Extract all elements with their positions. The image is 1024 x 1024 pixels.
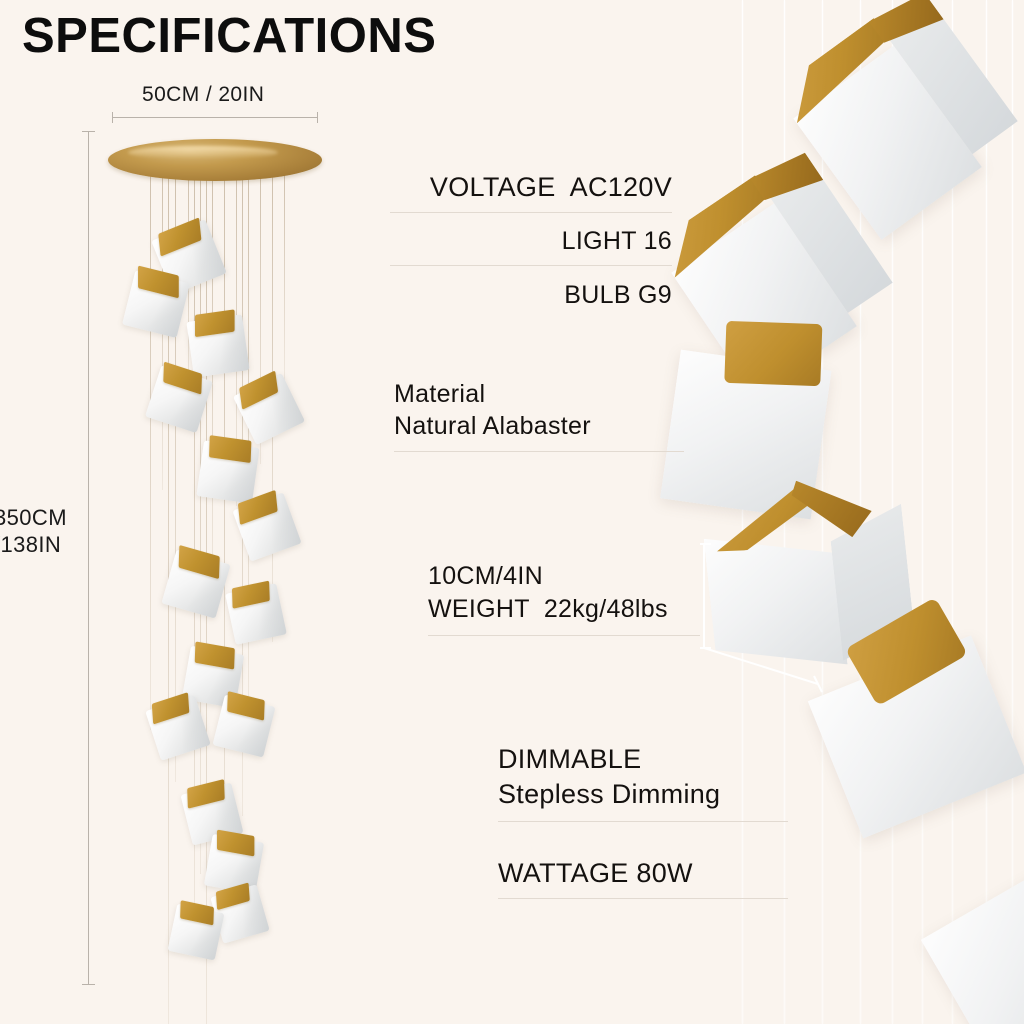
spec-material: Material Natural Alabaster bbox=[394, 378, 684, 452]
page-title: SPECIFICATIONS bbox=[22, 8, 436, 64]
divider bbox=[390, 212, 672, 213]
spec-material-title: Material bbox=[394, 378, 684, 410]
spec-material-value: Natural Alabaster bbox=[394, 410, 684, 442]
spec-cube-size: 10CM/4IN bbox=[428, 560, 700, 593]
spec-light-label: LIGHT 16 bbox=[390, 227, 672, 256]
spec-bulb-label: BULB G9 bbox=[390, 281, 672, 310]
cube-pendant bbox=[233, 373, 305, 445]
divider bbox=[394, 451, 684, 452]
spec-dimmable-value: Stepless Dimming bbox=[498, 777, 788, 812]
spec-weight: WEIGHT 22kg/48lbs bbox=[428, 593, 700, 626]
spec-dimmable-title: DIMMABLE bbox=[498, 742, 788, 777]
cube-pendant bbox=[212, 694, 275, 757]
spec-voltage: VOLTAGE AC120V bbox=[390, 172, 672, 213]
spec-dimmable: DIMMABLE Stepless Dimming bbox=[498, 742, 788, 822]
divider bbox=[498, 898, 788, 899]
specification-image: SPECIFICATIONS 50CM / 20IN 350CM /138IN bbox=[0, 0, 1024, 1024]
cube-pendant bbox=[122, 270, 190, 338]
spec-size-weight: 10CM/4IN WEIGHT 22kg/48lbs bbox=[428, 560, 700, 636]
spec-bulb: BULB G9 bbox=[390, 281, 672, 310]
width-dimension-label: 50CM / 20IN bbox=[142, 82, 264, 108]
cube-pendant bbox=[196, 440, 259, 503]
cube-pendant bbox=[186, 314, 249, 377]
divider bbox=[390, 265, 672, 266]
cube-pendant bbox=[225, 583, 287, 645]
height-dimension-line bbox=[88, 131, 89, 985]
divider bbox=[498, 821, 788, 822]
cube-pendant bbox=[168, 904, 225, 961]
spec-wattage-label: WATTAGE 80W bbox=[498, 858, 788, 889]
closeup-cube-partial bbox=[921, 855, 1024, 1024]
canopy-highlight bbox=[128, 146, 278, 159]
width-dimension-line bbox=[112, 117, 318, 118]
cube-pendant bbox=[161, 549, 230, 618]
height-dimension-label: 350CM /138IN bbox=[0, 505, 67, 559]
divider bbox=[428, 635, 700, 636]
spec-wattage: WATTAGE 80W bbox=[498, 858, 788, 899]
spec-voltage-label: VOLTAGE AC120V bbox=[390, 172, 672, 203]
spec-light: LIGHT 16 bbox=[390, 227, 672, 266]
